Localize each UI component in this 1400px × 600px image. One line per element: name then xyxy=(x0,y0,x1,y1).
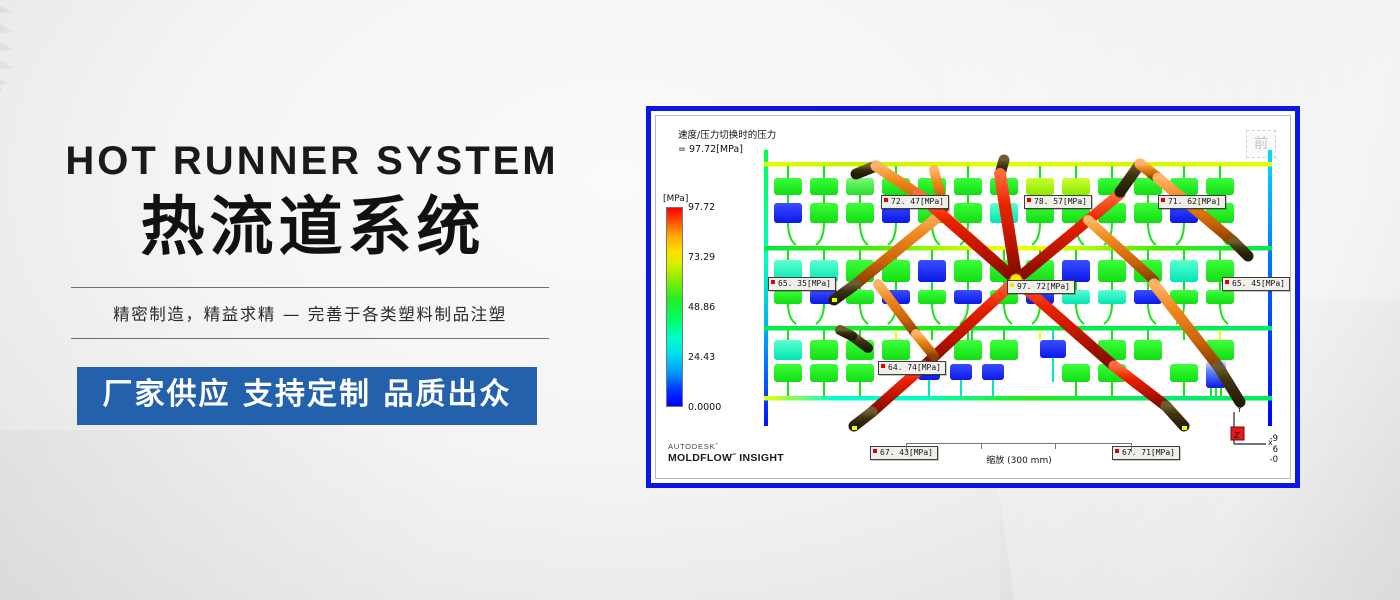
page-title-chinese: 热流道系统 xyxy=(0,189,620,268)
axis-value-0: -9 xyxy=(1270,434,1278,445)
simulation-screenshot-frame: 速度/压力切换时的压力= 97.72[MPa] 前 [MPa] 97.72 73… xyxy=(646,106,1300,488)
divider-bottom xyxy=(71,338,549,339)
legend-gradient-bar xyxy=(666,207,683,407)
probe-label-3[interactable]: 71. 62[MPa] xyxy=(1158,195,1226,209)
probe-label-6[interactable]: 64. 74[MPa] xyxy=(878,361,946,375)
legend-tick-1: 73.29 xyxy=(688,252,715,263)
headline-block: HOT RUNNER SYSTEM 热流道系统 精密制造，精益求精 — 完善于各… xyxy=(0,140,620,425)
subtitle-block: 精密制造，精益求精 — 完善于各类塑料制品注塑 xyxy=(71,287,549,339)
logo-moldflow-text: MOLDFLOW˝ INSIGHT xyxy=(668,452,784,464)
axis-value-1: 6 xyxy=(1270,445,1278,456)
header-line-2: = 97.72[MPa] xyxy=(678,144,743,155)
svg-text:Z: Z xyxy=(1233,431,1240,440)
legend-tick-0: 97.72 xyxy=(688,202,715,213)
axis-triad: Y x Z -9 6 -0 xyxy=(1224,404,1280,468)
probe-label-1[interactable]: 72. 47[MPa] xyxy=(881,195,949,209)
svg-text:Y: Y xyxy=(1236,405,1242,414)
simulation-canvas: 速度/压力切换时的压力= 97.72[MPa] 前 [MPa] 97.72 73… xyxy=(655,115,1291,479)
legend-tick-labels: 97.72 73.29 48.86 24.43 0.0000 xyxy=(688,202,746,412)
probe-label-2[interactable]: 78. 57[MPa] xyxy=(1024,195,1092,209)
scale-bar-label: 缩放 (300 mm) xyxy=(906,453,1132,466)
probe-label-center[interactable]: 97. 72[MPa] xyxy=(1007,280,1075,294)
logo-autodesk-text: AUTODESK˝ xyxy=(668,443,784,452)
scale-bar-line xyxy=(906,443,1132,452)
color-legend: [MPa] 97.72 73.29 48.86 24.43 0.0000 xyxy=(662,194,748,407)
axis-coordinate-values: -9 6 -0 xyxy=(1270,434,1278,466)
palm-leaf-decoration xyxy=(0,0,138,154)
probe-label-5[interactable]: 65. 45[MPa] xyxy=(1222,277,1290,291)
legend-tick-4: 0.0000 xyxy=(688,402,721,413)
promotional-banner: HOT RUNNER SYSTEM 热流道系统 精密制造，精益求精 — 完善于各… xyxy=(0,0,1400,600)
page-title-english: HOT RUNNER SYSTEM xyxy=(0,140,620,183)
cta-button[interactable]: 厂家供应 支持定制 品质出众 xyxy=(77,367,538,425)
probe-label-4[interactable]: 65. 35[MPa] xyxy=(768,277,836,291)
scale-bar: 缩放 (300 mm) xyxy=(906,443,1132,466)
axis-value-2: -0 xyxy=(1270,455,1278,466)
subtitle-text: 精密制造，精益求精 — 完善于各类塑料制品注塑 xyxy=(71,288,549,338)
legend-tick-2: 48.86 xyxy=(688,302,715,313)
legend-tick-3: 24.43 xyxy=(688,352,715,363)
autodesk-logo: AUTODESK˝ MOLDFLOW˝ INSIGHT xyxy=(668,443,784,464)
background-shade-lower-left xyxy=(0,430,640,600)
